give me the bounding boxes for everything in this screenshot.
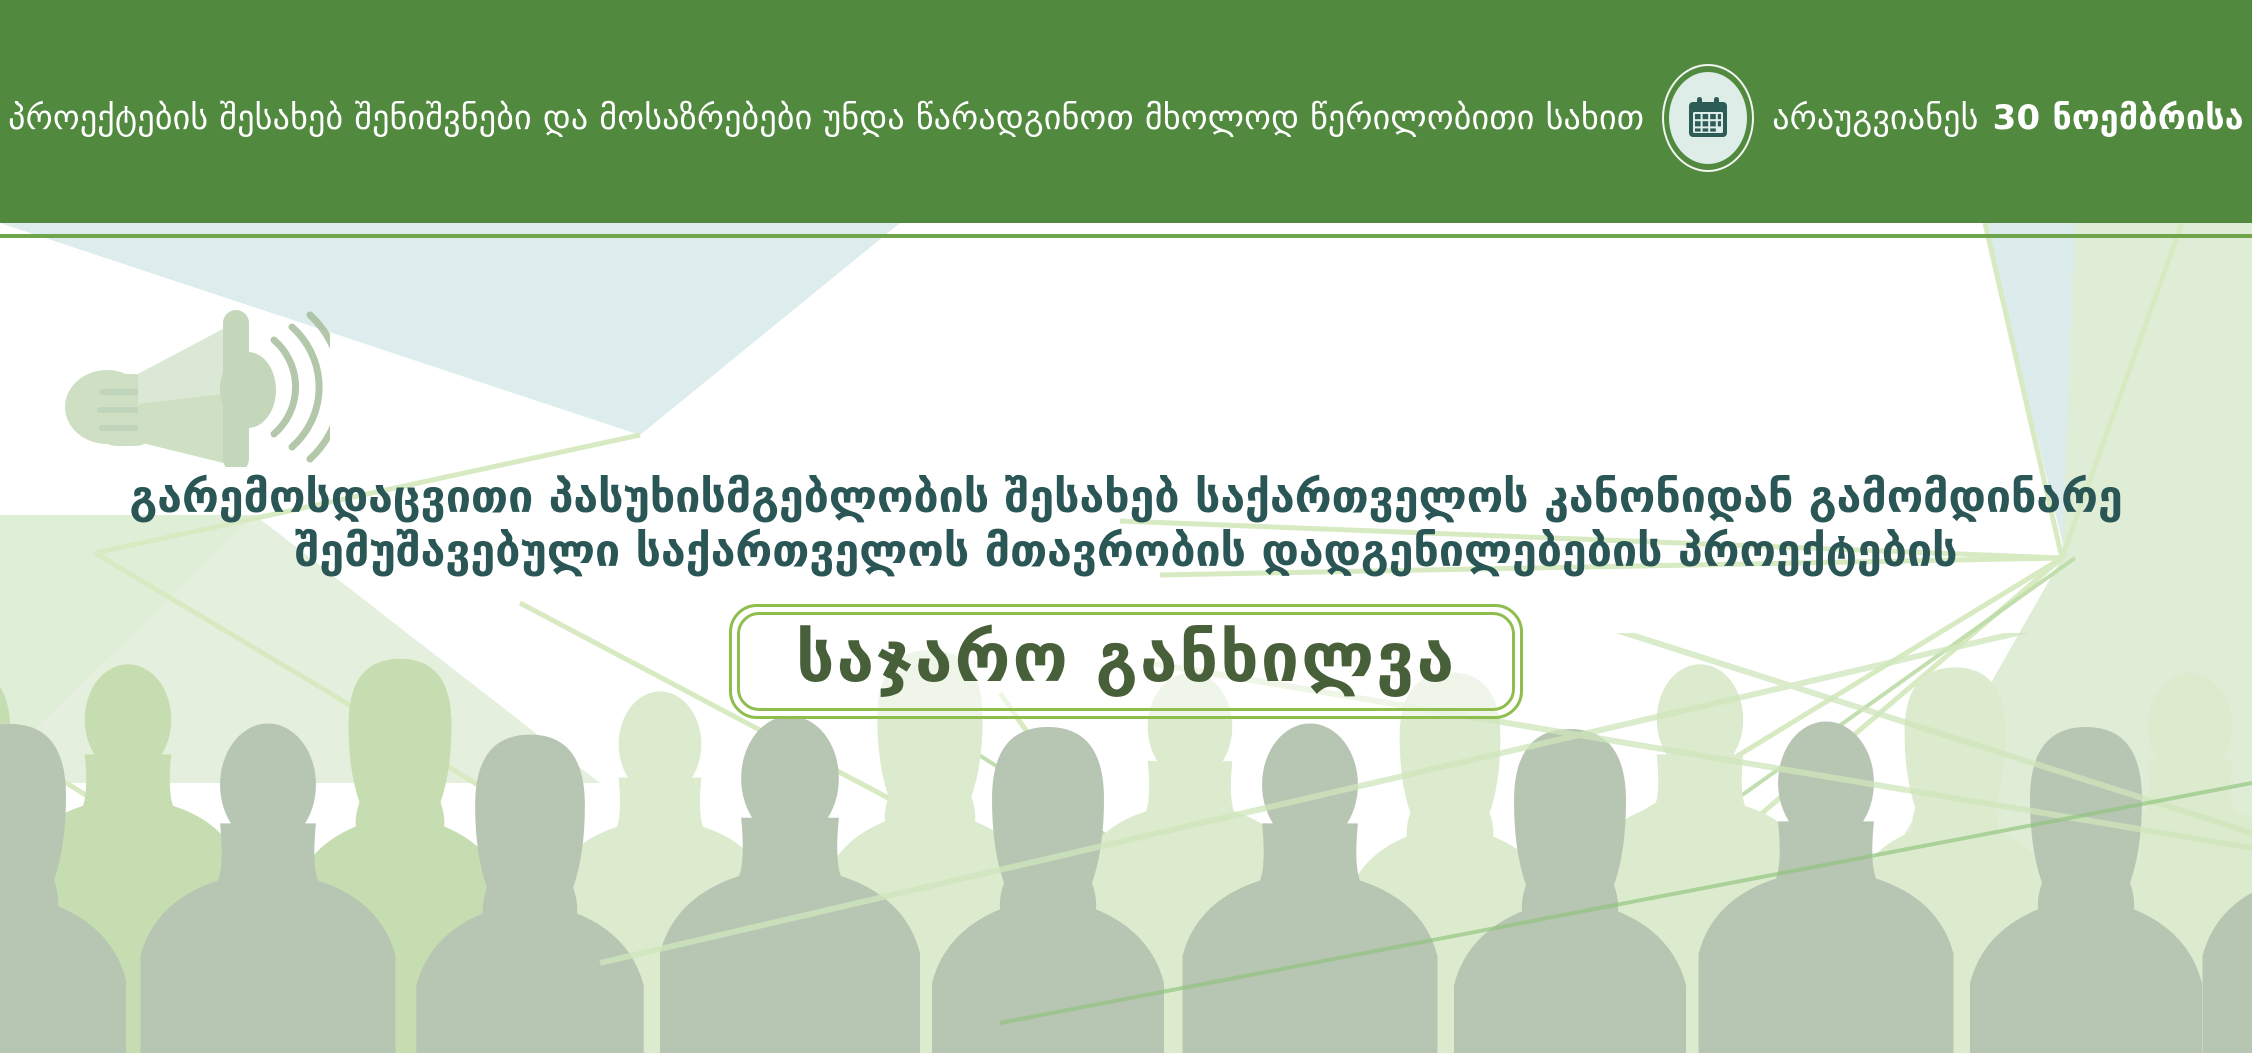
deadline-instruction-text: პროექტების შესახებ შენიშვნები და მოსაზრე…	[8, 101, 1644, 135]
deadline-prefix-text: არაუგვიანეს	[1772, 101, 1978, 135]
headline-line-2: შემუშავებული საქართველოს მთავრობის დადგე…	[40, 524, 2212, 578]
deadline-date: 30 ნოემბრისა	[1993, 101, 2244, 135]
megaphone-icon	[60, 282, 330, 467]
calendar-icon	[1662, 64, 1754, 172]
deadline-banner: პროექტების შესახებ შენიშვნები და მოსაზრე…	[0, 0, 2252, 223]
headline-block: გარემოსდაცვითი პასუხისმგებლობის შესახებ …	[0, 470, 2252, 719]
public-discussion-banner: პროექტების შესახებ შენიშვნები და მოსაზრე…	[0, 0, 2252, 1053]
callout-label: საჯარო განხილვა	[796, 623, 1456, 694]
callout-box: საჯარო განხილვა	[729, 604, 1523, 719]
page-title: გარემოსდაცვითი პასუხისმგებლობის შესახებ …	[0, 470, 2252, 578]
banner-divider	[0, 234, 2252, 238]
calendar-glyph-svg	[1685, 95, 1731, 141]
callout-box-inner: საჯარო განხილვა	[737, 612, 1515, 711]
headline-line-1: გარემოსდაცვითი პასუხისმგებლობის შესახებ …	[40, 470, 2212, 524]
megaphone-svg	[60, 282, 330, 467]
